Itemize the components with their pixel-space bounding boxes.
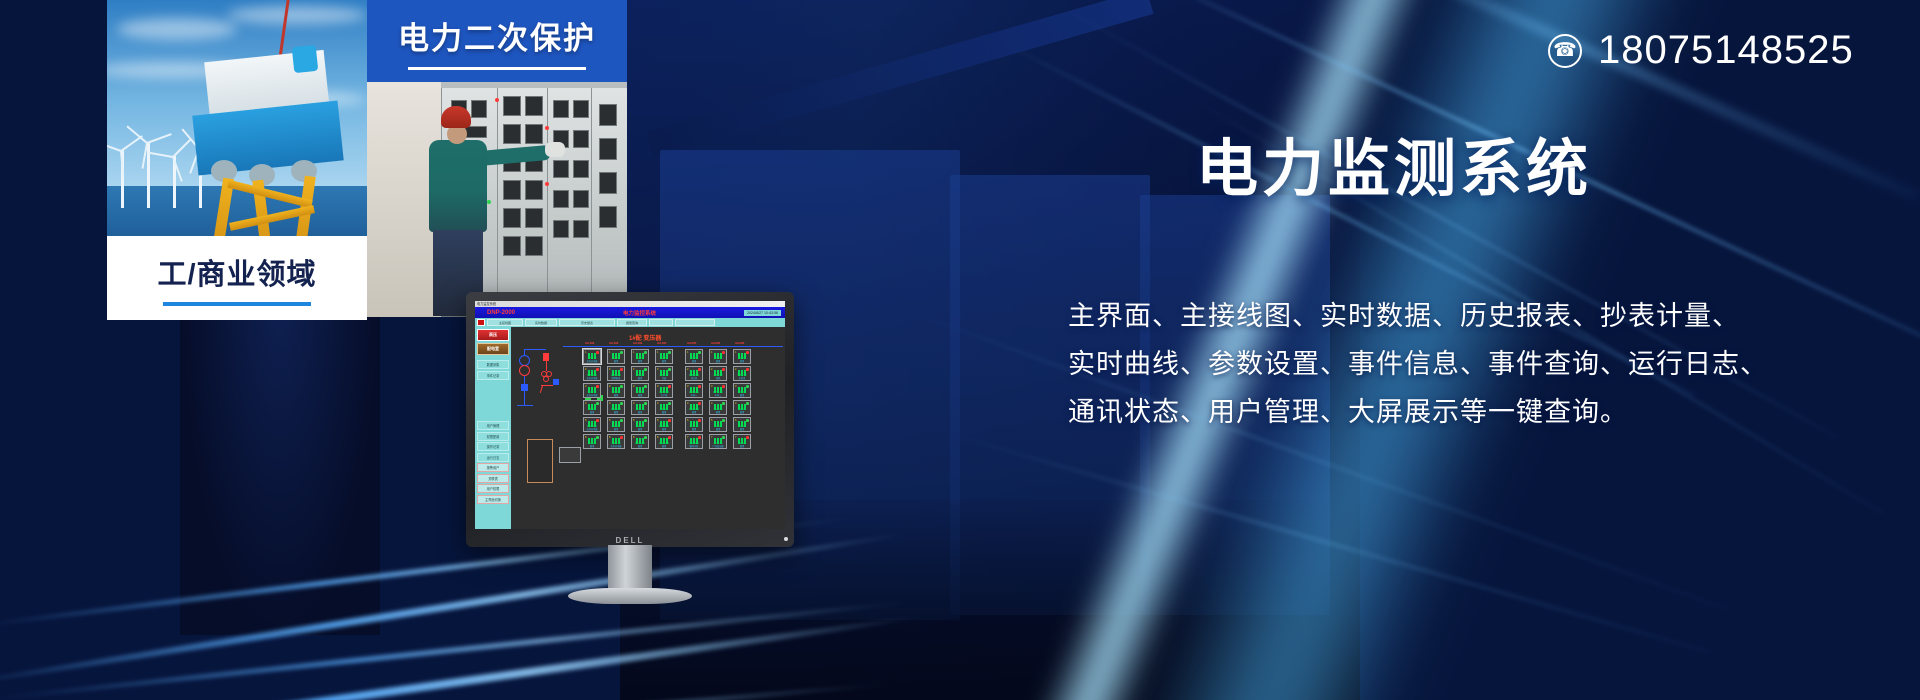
cell-index: 1	[585, 351, 586, 354]
feeder-cell[interactable]: 30.00备用	[733, 383, 751, 398]
sidebar-item-6[interactable]: 报警用户	[477, 463, 509, 472]
cell-index: 1	[735, 351, 736, 354]
cell-status-dot	[596, 402, 599, 405]
dell-monitor: 电力监控系统 DNP-2000 电力监控系统 2024/8/27 10:43:5…	[466, 292, 794, 547]
cell-index: 1	[687, 351, 688, 354]
feeder-cell[interactable]: 73746.40户外变压器	[709, 434, 727, 449]
cell-index: 4	[609, 402, 610, 405]
app-toolbar[interactable]: 主接线图 实时数据 历史报表 报警查询	[475, 318, 785, 327]
cell-label: 备用	[711, 427, 725, 431]
app-center-title: 电力监控系统	[623, 309, 656, 317]
clock-display: 2024/8/27 10:43:56	[744, 310, 781, 316]
phone-circle-icon: ☎	[1548, 34, 1582, 68]
feeder-cell[interactable]: 413596.00备用	[685, 400, 703, 415]
cell-index: 6	[633, 436, 634, 439]
cell-index: 5	[711, 419, 712, 422]
cell-status-dot	[668, 368, 671, 371]
feeder-cell[interactable]: 231793.51总有功电能	[583, 366, 601, 381]
feeder-col-3: AA105	[657, 341, 666, 345]
sidebar-item-8[interactable]: 用户权限	[477, 484, 509, 493]
cell-index: 3	[687, 385, 688, 388]
cell-index: 5	[657, 419, 658, 422]
cell-label: 备用	[711, 359, 725, 363]
feeder-cell[interactable]: 16290.60总有功电能	[583, 349, 601, 364]
toolbar-btn-4[interactable]	[649, 319, 673, 326]
feeder-cell[interactable]: 70.00备用	[733, 434, 751, 449]
cell-index: 4	[687, 402, 688, 405]
cell-label: 总有功电能	[585, 393, 599, 397]
feeder-cell[interactable]: 29863.90水泵房	[733, 366, 751, 381]
cell-status-dot	[722, 402, 725, 405]
power-monitoring-banner: 电力二次保护 工/商业领域 电力监控系统 DNP-2000 电力监控系统 202…	[0, 0, 1920, 700]
feeder-cell[interactable]: 10.00备用	[607, 349, 625, 364]
cell-status-dot	[620, 419, 623, 422]
dell-logo: DELL	[466, 536, 794, 545]
feeder-cell[interactable]: 22994.00风机	[709, 366, 727, 381]
toolbar-btn-3[interactable]: 报警查询	[617, 319, 647, 326]
feeder-cell[interactable]: 316471.59车间一	[685, 383, 703, 398]
feeder-cell[interactable]: 10.00备用	[655, 349, 673, 364]
label-industrial-commercial: 工/商业领域	[107, 236, 367, 320]
cell-label: 备用	[657, 427, 671, 431]
cell-status-dot	[698, 419, 701, 422]
sidebar-item-0[interactable]: 数据采集	[477, 360, 509, 369]
cell-index: 2	[633, 368, 634, 371]
toolbar-btn-5[interactable]	[675, 319, 715, 326]
feeder-col-4: AA205	[687, 341, 696, 345]
cell-label: 总有功电能	[585, 359, 599, 363]
cell-status-dot	[746, 385, 749, 388]
cell-label: 空调	[657, 376, 671, 380]
cell-index: 4	[585, 402, 586, 405]
feeder-col-6: AA203	[735, 341, 744, 345]
cell-label: 备用	[735, 359, 749, 363]
cell-status-dot	[596, 351, 599, 354]
cell-label: 生产线	[657, 393, 671, 397]
cell-label: 备用	[657, 444, 671, 448]
label-underline	[163, 302, 311, 306]
cell-label: 备用	[735, 427, 749, 431]
mimic-diagram-area[interactable]: 1#配 变压器	[511, 327, 785, 529]
cell-label: 备用	[735, 393, 749, 397]
cell-status-dot	[620, 385, 623, 388]
feeder-cell[interactable]: 616230.40备用	[655, 434, 673, 449]
cell-label: 备用	[609, 410, 623, 414]
cell-index: 7	[711, 436, 712, 439]
desc-line-1: 实时曲线、参数设置、事件信息、事件查询、运行日志、	[1068, 340, 1858, 388]
cell-index: 4	[711, 402, 712, 405]
app-header: DNP-2000 电力监控系统 2024/8/27 10:43:56	[475, 307, 785, 318]
cell-status-dot	[644, 385, 647, 388]
cell-index: 1	[711, 351, 712, 354]
cell-status-dot	[596, 368, 599, 371]
one-line-diagram	[513, 349, 561, 449]
feeder-cell[interactable]: 32873.94总有功电能	[583, 383, 601, 398]
monitor-stand-neck	[608, 545, 652, 593]
feeder-cell[interactable]: 30.00备用	[631, 383, 649, 398]
cell-index: 1	[633, 351, 634, 354]
toolbar-btn-0[interactable]: 主接线图	[487, 319, 523, 326]
feeder-cell[interactable]: 210761.30照明配电	[607, 366, 625, 381]
cell-label: 车间一	[687, 393, 701, 397]
toolbar-btn-1[interactable]: 实时数据	[525, 319, 557, 326]
cell-status-dot	[698, 436, 701, 439]
busbar-line	[563, 346, 783, 347]
cell-label: 总有功电能	[609, 444, 623, 448]
feeder-col-0: AA102	[585, 341, 594, 345]
cell-index: 3	[711, 385, 712, 388]
cell-label: 车间二	[711, 393, 725, 397]
monitor-screen[interactable]: 电力监控系统 DNP-2000 电力监控系统 2024/8/27 10:43:5…	[475, 301, 785, 529]
cell-label: 备用	[585, 444, 599, 448]
cell-status-dot	[722, 419, 725, 422]
cell-label: 备用	[609, 427, 623, 431]
label-power-secondary-protection: 电力二次保护	[367, 0, 627, 82]
feature-description: 主界面、主接线图、实时数据、历史报表、抄表计量、 实时曲线、参数设置、事件信息、…	[1068, 292, 1858, 436]
cell-index: 1	[657, 351, 658, 354]
cell-status-dot	[746, 436, 749, 439]
cell-status-dot	[644, 368, 647, 371]
sidebar-item-4[interactable]: 操作记录	[477, 442, 509, 451]
cell-label: 备用	[711, 410, 725, 414]
feeder-cell[interactable]: 311731.30车间二	[709, 383, 727, 398]
feeder-cell[interactable]: 50.00备用	[607, 417, 625, 432]
cell-index: 6	[609, 436, 610, 439]
cell-index: 7	[687, 436, 688, 439]
cell-index: 6	[657, 436, 658, 439]
feeder-cell[interactable]: 613706.00备用	[631, 434, 649, 449]
app-brand: DNP-2000	[487, 310, 515, 316]
cell-status-dot	[668, 419, 671, 422]
cell-label: 动力柜	[687, 376, 701, 380]
cell-label: 备用	[609, 359, 623, 363]
cell-label: 备用	[735, 444, 749, 448]
page-title: 电力监测系统	[1196, 118, 1592, 208]
feeder-col-2: AA104	[633, 341, 642, 345]
feeder-cell[interactable]: 40.00备用	[655, 400, 673, 415]
feeder-cell[interactable]: 20.00备用	[631, 366, 649, 381]
cell-label: 备用	[657, 410, 671, 414]
cell-index: 2	[609, 368, 610, 371]
desc-line-2: 通讯状态、用户管理、大屏展示等一键查询。	[1068, 388, 1858, 436]
sidebar-item-9[interactable]: 主界面切换	[477, 495, 509, 504]
cell-status-dot	[698, 385, 701, 388]
feeder-cell[interactable]: 10.00备用	[709, 349, 727, 364]
overhead-sign	[646, 0, 1153, 157]
phone-number: 18075148525	[1598, 28, 1854, 73]
scada-application[interactable]: 电力监控系统 DNP-2000 电力监控系统 2024/8/27 10:43:5…	[475, 301, 785, 529]
feeder-cell[interactable]: 42342.62备用	[709, 400, 727, 415]
cell-index: 4	[657, 402, 658, 405]
cell-label: 备用	[657, 359, 671, 363]
app-body: 高压 配电室 数据采集 事件记录 用户管理 权限配置 操作记录 运行日志 报警用…	[475, 327, 785, 529]
cell-label: 备用	[633, 410, 647, 414]
cell-label: 照明配电	[609, 376, 623, 380]
cell-label: 备用	[687, 359, 701, 363]
feeder-cell[interactable]: 60.00备用	[733, 417, 751, 432]
sidebar-item-3[interactable]: 权限配置	[477, 432, 509, 441]
cell-status-dot	[620, 351, 623, 354]
sidebar-item-distribution-room[interactable]: 配电室	[477, 343, 509, 355]
cell-status-dot	[620, 436, 623, 439]
feeder-cell[interactable]: 40.00备用	[733, 400, 751, 415]
label-text: 电力二次保护	[398, 13, 596, 58]
cell-label: 总有功电能	[585, 427, 599, 431]
cell-label: 备用	[633, 359, 647, 363]
cell-index: 3	[735, 385, 736, 388]
sidebar-item-1[interactable]: 事件记录	[477, 371, 509, 380]
cell-label: 备用	[585, 410, 599, 414]
sidebar-item-high-voltage[interactable]: 高压	[477, 329, 509, 341]
cell-index: 3	[657, 385, 658, 388]
sidebar-item-5[interactable]: 运行日志	[477, 453, 509, 462]
worker-red-hardhat	[441, 106, 471, 128]
cell-status-dot	[722, 368, 725, 371]
feeder-cell[interactable]: 60.00备用	[583, 434, 601, 449]
cell-status-dot	[668, 385, 671, 388]
worker-jacket	[429, 140, 487, 232]
cell-index: 2	[735, 368, 736, 371]
cell-label: 总有功电能	[585, 376, 599, 380]
cell-status-dot	[596, 419, 599, 422]
contact-phone[interactable]: ☎ 18075148525	[1548, 28, 1854, 73]
cell-status-dot	[746, 419, 749, 422]
cell-status-dot	[596, 436, 599, 439]
feeder-cell[interactable]: 417306.60备用	[607, 400, 625, 415]
cell-index: 5	[585, 419, 586, 422]
cell-status-dot	[722, 436, 725, 439]
feeder-cell[interactable]: 512406.99备用	[655, 417, 673, 432]
cell-index: 4	[735, 402, 736, 405]
cell-index: 5	[633, 419, 634, 422]
monitor-stand-base	[568, 588, 692, 604]
feeder-cell[interactable]: 44218.76备用	[631, 400, 649, 415]
status-panel-box[interactable]	[527, 439, 553, 483]
cell-label: 备用	[633, 444, 647, 448]
cell-status-dot	[620, 402, 623, 405]
cell-index: 2	[657, 368, 658, 371]
cell-label: 备用	[735, 410, 749, 414]
desc-line-0: 主界面、主接线图、实时数据、历史报表、抄表计量、	[1068, 292, 1858, 340]
cell-status-dot	[620, 368, 623, 371]
cell-index: 2	[585, 368, 586, 371]
cell-status-dot	[722, 351, 725, 354]
cell-index: 2	[687, 368, 688, 371]
alarm-icon[interactable]	[477, 319, 485, 326]
cell-index: 3	[633, 385, 634, 388]
cell-label: 备用	[633, 427, 647, 431]
feeder-cell[interactable]: 54443.40备用	[685, 417, 703, 432]
cell-label: 循环水泵	[687, 444, 701, 448]
cell-label: 备用	[633, 393, 647, 397]
cell-status-dot	[746, 368, 749, 371]
platform-duct	[292, 45, 319, 73]
cell-label: 户外变压器	[711, 444, 725, 448]
cell-status-dot	[644, 351, 647, 354]
feeder-col-5: AA204	[711, 341, 720, 345]
feeder-cell[interactable]: 514693.00总有功电能	[583, 417, 601, 432]
toolbar-btn-2[interactable]: 历史报表	[559, 319, 615, 326]
cell-status-dot	[746, 351, 749, 354]
feeder-cell[interactable]: 10.00备用	[631, 349, 649, 364]
cell-status-dot	[698, 402, 701, 405]
feeder-col-1: AA103	[609, 341, 618, 345]
feeder-cell[interactable]: 30.00备用	[607, 383, 625, 398]
feeder-cell[interactable]: 50.00备用	[709, 417, 727, 432]
cell-status-dot	[698, 368, 701, 371]
cell-index: 5	[609, 419, 610, 422]
feeder-cell[interactable]: 40.00备用	[583, 400, 601, 415]
cell-index: 1	[609, 351, 610, 354]
cell-status-dot	[746, 402, 749, 405]
feeder-cell[interactable]: 10.00备用	[733, 349, 751, 364]
sidebar-item-2[interactable]: 用户管理	[477, 421, 509, 430]
feeder-cell[interactable]: 219806.41动力柜	[685, 366, 703, 381]
monitor-bezel: 电力监控系统 DNP-2000 电力监控系统 2024/8/27 10:43:5…	[466, 292, 794, 547]
switchgear-inspection-photo	[367, 82, 627, 317]
cell-label: 水泵房	[735, 376, 749, 380]
cell-status-dot	[644, 402, 647, 405]
cell-label: 备用	[687, 427, 701, 431]
cell-label: 备用	[633, 376, 647, 380]
worker-glove	[545, 142, 565, 157]
cell-label: 备用	[609, 393, 623, 397]
cell-label: 备用	[687, 410, 701, 414]
sidebar-item-7[interactable]: 关联表	[477, 474, 509, 483]
label-text: 工/商业领域	[157, 251, 316, 293]
cell-index: 5	[687, 419, 688, 422]
app-sidebar[interactable]: 高压 配电室 数据采集 事件记录 用户管理 权限配置 操作记录 运行日志 报警用…	[475, 327, 511, 529]
cell-index: 7	[735, 436, 736, 439]
cell-index: 3	[609, 385, 610, 388]
cell-index: 2	[711, 368, 712, 371]
meter-box[interactable]	[559, 447, 581, 463]
cell-status-dot	[596, 385, 599, 388]
cell-status-dot	[644, 436, 647, 439]
feeder-cell[interactable]: 63084.10总有功电能	[607, 434, 625, 449]
cell-index: 4	[633, 402, 634, 405]
cell-status-dot	[668, 351, 671, 354]
cell-index: 6	[585, 436, 586, 439]
cell-status-dot	[668, 402, 671, 405]
feeder-cell[interactable]: 336273.42生产线	[655, 383, 673, 398]
power-indicator-icon[interactable]	[784, 537, 788, 541]
label-underline	[408, 67, 586, 70]
feeder-cell[interactable]: 22907.30空调	[655, 366, 673, 381]
cell-status-dot	[698, 351, 701, 354]
cell-status-dot	[722, 385, 725, 388]
cell-index: 6	[735, 419, 736, 422]
feeder-cell[interactable]: 714399.40循环水泵	[685, 434, 703, 449]
feeder-cell[interactable]: 50.00备用	[631, 417, 649, 432]
cell-status-dot	[644, 419, 647, 422]
cell-label: 风机	[711, 376, 725, 380]
cell-status-dot	[668, 436, 671, 439]
cell-index: 3	[585, 385, 586, 388]
feeder-cell[interactable]: 10.00备用	[685, 349, 703, 364]
